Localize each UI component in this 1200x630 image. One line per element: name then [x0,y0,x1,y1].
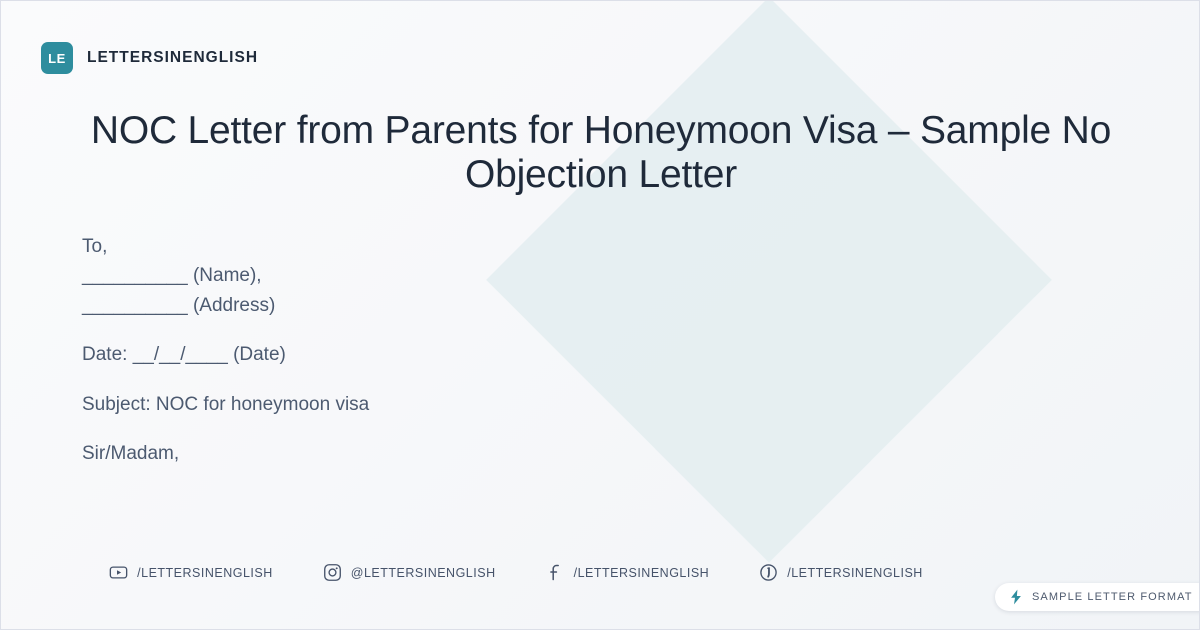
letter-body: To, __________ (Name), __________ (Addre… [82,232,782,469]
social-link-pinterest[interactable]: /LETTERSINENGLISH [759,563,923,582]
page-title: NOC Letter from Parents for Honeymoon Vi… [81,109,1121,197]
letter-block-subject: Subject: NOC for honeymoon visa [82,390,782,419]
letter-block-recipient: To, __________ (Name), __________ (Addre… [82,232,782,320]
youtube-icon [109,563,128,582]
social-handle: /LETTERSINENGLISH [574,566,710,580]
social-link-youtube[interactable]: /LETTERSINENGLISH [109,563,273,582]
facebook-icon [546,563,565,582]
pinterest-icon [759,563,778,582]
letter-line: Subject: NOC for honeymoon visa [82,390,782,419]
lightning-bolt-icon [1009,589,1023,605]
instagram-icon [323,563,342,582]
brand-wordmark: LETTERSINENGLISH [87,49,258,67]
brand-header[interactable]: LE LETTERSINENGLISH [41,42,258,74]
sample-letter-format-badge[interactable]: SAMPLE LETTER FORMAT [995,583,1200,611]
social-handle: /LETTERSINENGLISH [787,566,923,580]
badge-label: SAMPLE LETTER FORMAT [1032,591,1193,603]
letter-line: To, [82,232,782,261]
social-links-row: /LETTERSINENGLISH @LETTERSINENGLISH /LET… [1,563,1200,582]
brand-logo-mark: LE [41,42,73,74]
social-handle: @LETTERSINENGLISH [351,566,496,580]
letter-line: Date: __/__/____ (Date) [82,340,782,369]
social-handle: /LETTERSINENGLISH [137,566,273,580]
social-link-instagram[interactable]: @LETTERSINENGLISH [323,563,496,582]
letter-line: Sir/Madam, [82,439,782,468]
letter-line: __________ (Address) [82,291,782,320]
poster-canvas: LE LETTERSINENGLISH NOC Letter from Pare… [0,0,1200,630]
letter-block-salutation: Sir/Madam, [82,439,782,468]
letter-block-date: Date: __/__/____ (Date) [82,340,782,369]
letter-line: __________ (Name), [82,261,782,290]
social-link-facebook[interactable]: /LETTERSINENGLISH [546,563,710,582]
